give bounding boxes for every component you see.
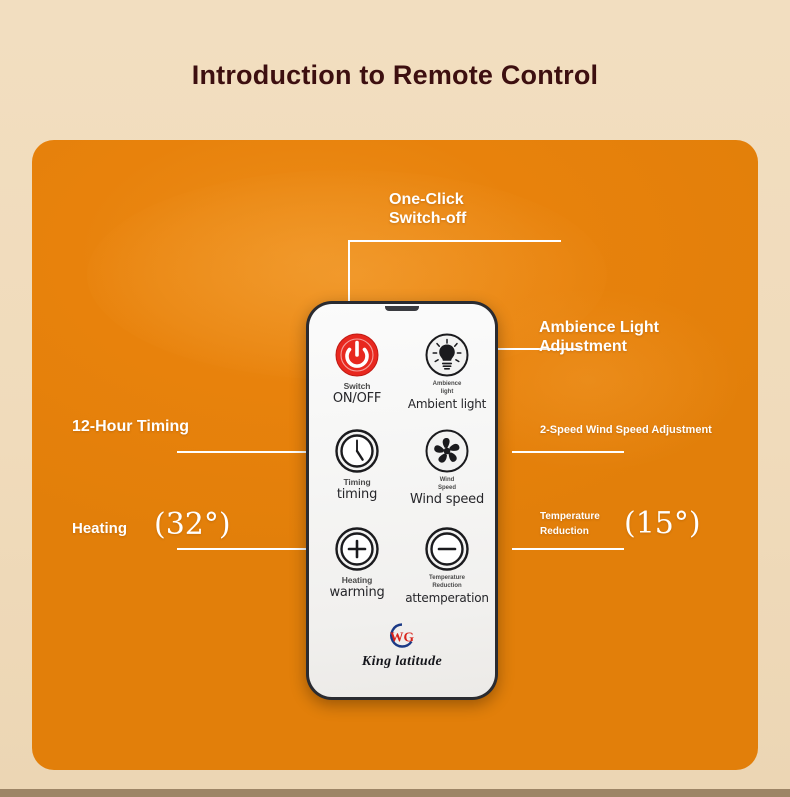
button-ambient-light-label: Ambiencelight xyxy=(403,381,491,396)
button-temperature-reduction-label-line2: Reduction xyxy=(432,583,461,589)
callout-cooling-value: (15°) xyxy=(624,508,701,540)
callout-wind: 2-Speed Wind Speed Adjustment xyxy=(540,422,712,438)
callout-heating-value: (32°) xyxy=(154,509,231,541)
button-power-label: Switch xyxy=(313,381,401,391)
ir-emitter-notch xyxy=(385,306,419,311)
button-temperature-reduction-label: TemperatureReduction xyxy=(403,575,491,590)
button-power[interactable]: Switch ON/OFF xyxy=(313,332,401,406)
callout-switch-off: One-Click Switch-off xyxy=(389,190,466,228)
callout-ambience: Ambience Light Adjustment xyxy=(539,318,659,356)
button-temperature-reduction-overlay-label: attemperation xyxy=(403,591,491,605)
brand-name: King latitude xyxy=(309,654,495,670)
minus-icon xyxy=(424,526,470,572)
page-title: Introduction to Remote Control xyxy=(0,60,790,91)
button-wind-speed-label: WindSpeed xyxy=(403,477,491,492)
page-root: Introduction to Remote Control One-Click… xyxy=(0,0,790,797)
button-ambient-light-label-line2: light xyxy=(441,389,454,395)
leader-line-cooling xyxy=(512,548,624,550)
callout-cooling: Temperature Reduction xyxy=(540,509,600,539)
leader-line-wind xyxy=(512,451,624,453)
button-heating-label: Heating xyxy=(313,575,401,585)
bottom-strip xyxy=(0,789,790,797)
button-wind-speed-label-line1: Wind xyxy=(440,477,455,483)
clock-icon xyxy=(334,428,380,474)
svg-text:WG: WG xyxy=(390,630,415,645)
plus-icon xyxy=(334,526,380,572)
leader-line-timing xyxy=(177,451,322,453)
callout-heating: Heating xyxy=(72,519,127,538)
leader-line-switch-off-horizontal xyxy=(348,240,561,242)
button-wind-speed-label-line2: Speed xyxy=(438,485,456,491)
button-temperature-reduction[interactable]: TemperatureReduction attemperation xyxy=(403,526,491,605)
button-timing[interactable]: Timing timing xyxy=(313,428,401,502)
button-ambient-light[interactable]: Ambiencelight Ambient light xyxy=(403,332,491,411)
power-icon xyxy=(334,332,380,378)
callout-timing: 12-Hour Timing xyxy=(72,417,189,436)
fan-icon xyxy=(424,428,470,474)
wg-logo-icon: WG xyxy=(384,622,420,652)
button-power-overlay-label: ON/OFF xyxy=(313,392,401,406)
light-bulb-icon xyxy=(424,332,470,378)
brand-block: WG King latitude xyxy=(309,622,495,670)
remote-faceplate: Switch ON/OFF xyxy=(309,304,495,697)
button-ambient-light-overlay-label: Ambient light xyxy=(403,397,491,411)
button-heating-overlay-label: warming xyxy=(313,586,401,600)
button-timing-label: Timing xyxy=(313,477,401,487)
button-temperature-reduction-label-line1: Temperature xyxy=(429,575,465,581)
leader-line-heating xyxy=(177,548,322,550)
button-ambient-light-label-line1: Ambience xyxy=(433,381,462,387)
button-heating[interactable]: Heating warming xyxy=(313,526,401,600)
button-wind-speed-overlay-label: Wind speed xyxy=(403,493,491,507)
button-timing-overlay-label: timing xyxy=(313,488,401,502)
button-wind-speed[interactable]: WindSpeed Wind speed xyxy=(403,428,491,507)
remote-control-device: Switch ON/OFF xyxy=(306,301,498,700)
